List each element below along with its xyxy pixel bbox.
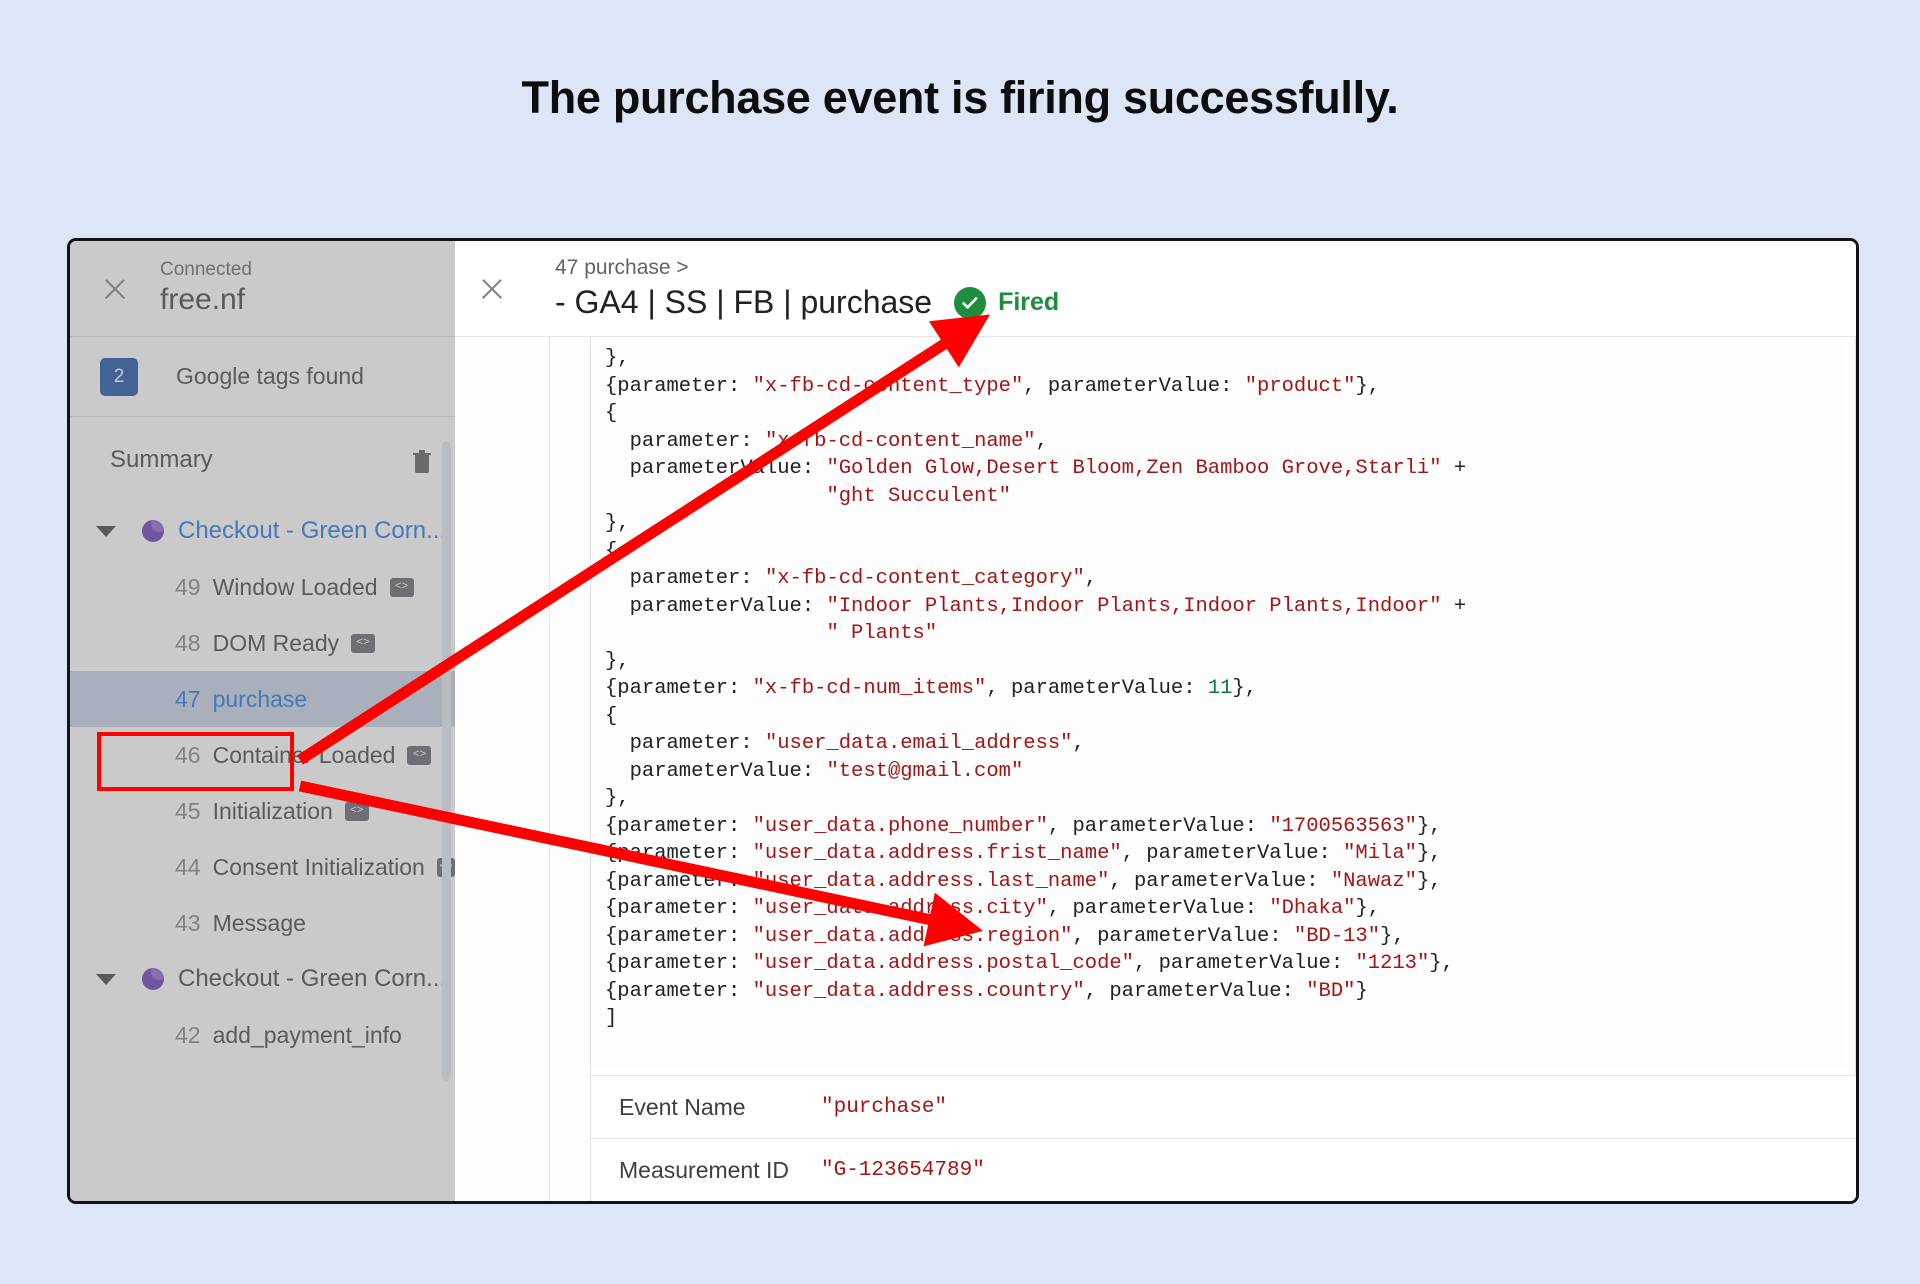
tags-count-badge: 2 <box>100 358 138 396</box>
event-number: 48 <box>175 630 201 657</box>
event-label: purchase <box>213 686 308 713</box>
status-badge: Fired <box>954 287 1059 319</box>
trash-icon[interactable] <box>409 446 435 474</box>
tag-title: - GA4 | SS | FB | purchase <box>555 284 932 321</box>
event-number: 47 <box>175 686 201 713</box>
code-icon: <> <box>345 802 369 821</box>
parameters-code-block[interactable]: }, {parameter: "x-fb-cd-content_type", p… <box>591 337 1856 1075</box>
row-value: "G-123654789" <box>821 1159 985 1182</box>
event-label: Consent Initialization <box>213 854 425 881</box>
code-icon: <> <box>351 634 375 653</box>
event-number: 43 <box>175 910 201 937</box>
close-icon[interactable] <box>477 274 507 304</box>
check-circle-icon <box>954 287 986 319</box>
event-group-label: Checkout - Green Corn... <box>178 965 446 993</box>
code-icon: <> <box>390 578 414 597</box>
chevron-down-icon[interactable] <box>96 526 116 537</box>
row-key: Event Name <box>591 1094 821 1121</box>
event-label: Window Loaded <box>213 574 378 601</box>
close-icon[interactable] <box>100 274 130 304</box>
highlight-box-purchase <box>97 732 294 791</box>
sidebar: Connected free.nf 2 Google tags found Su… <box>70 241 455 1201</box>
code-vertical-scrollbar[interactable] <box>1845 337 1853 1075</box>
event-number: 42 <box>175 1022 201 1049</box>
event-group-header-2[interactable]: Checkout - Green Corn... <box>70 951 455 1007</box>
table-row-measurement-id: Measurement ID "G-123654789" <box>591 1138 1856 1201</box>
event-group-header[interactable]: Checkout - Green Corn... <box>70 503 455 559</box>
code-horizontal-scrollbar[interactable] <box>591 1067 1855 1075</box>
event-number: 44 <box>175 854 201 881</box>
page-title: The purchase event is firing successfull… <box>0 72 1920 124</box>
event-item-dom-ready[interactable]: 48 DOM Ready <> <box>70 615 455 671</box>
connected-domain: free.nf <box>160 283 252 318</box>
event-number: 45 <box>175 798 201 825</box>
event-item-consent-initialization[interactable]: 44 Consent Initialization <> <box>70 839 455 895</box>
status-label: Fired <box>998 288 1059 317</box>
row-value: "purchase" <box>821 1096 947 1119</box>
container-dot-icon <box>142 968 164 990</box>
event-item-message[interactable]: 43 Message <box>70 895 455 951</box>
event-item-add-payment-info[interactable]: 42 add_payment_info <box>70 1007 455 1063</box>
detail-gutter-b <box>550 337 591 1201</box>
summary-label: Summary <box>110 446 213 474</box>
event-label: add_payment_info <box>213 1022 402 1049</box>
event-item-purchase[interactable]: 47 purchase <box>70 671 455 727</box>
event-group-label: Checkout - Green Corn... <box>178 517 446 545</box>
parameters-code-text: }, {parameter: "x-fb-cd-content_type", p… <box>591 337 1855 1033</box>
event-item-initialization[interactable]: 45 Initialization <> <box>70 783 455 839</box>
tag-detail-body: }, {parameter: "x-fb-cd-content_type", p… <box>455 337 1856 1201</box>
detail-gutter-a <box>455 337 550 1201</box>
event-label: DOM Ready <box>213 630 340 657</box>
breadcrumb[interactable]: 47 purchase > <box>555 256 1059 280</box>
row-key: Measurement ID <box>591 1157 821 1184</box>
code-icon: <> <box>407 746 431 765</box>
chevron-down-icon[interactable] <box>96 974 116 985</box>
tag-detail-header: 47 purchase > - GA4 | SS | FB | purchase… <box>455 241 1856 337</box>
table-row-event-name: Event Name "purchase" <box>591 1075 1856 1138</box>
event-label: Initialization <box>213 798 333 825</box>
tags-found-label: Google tags found <box>176 363 364 390</box>
tag-assistant-window: Connected free.nf 2 Google tags found Su… <box>67 238 1859 1204</box>
event-label: Message <box>213 910 306 937</box>
event-item-window-loaded[interactable]: 49 Window Loaded <> <box>70 559 455 615</box>
event-number: 49 <box>175 574 201 601</box>
google-tags-found-row[interactable]: 2 Google tags found <box>70 337 455 417</box>
container-dot-icon <box>142 520 164 542</box>
detail-main-column: }, {parameter: "x-fb-cd-content_type", p… <box>591 337 1856 1201</box>
sidebar-header: Connected free.nf <box>70 241 455 337</box>
connection-status: Connected <box>160 259 252 281</box>
tag-detail-pane: 47 purchase > - GA4 | SS | FB | purchase… <box>455 241 1856 1201</box>
summary-row[interactable]: Summary <box>70 417 455 503</box>
sidebar-scrollbar[interactable] <box>442 441 451 1081</box>
